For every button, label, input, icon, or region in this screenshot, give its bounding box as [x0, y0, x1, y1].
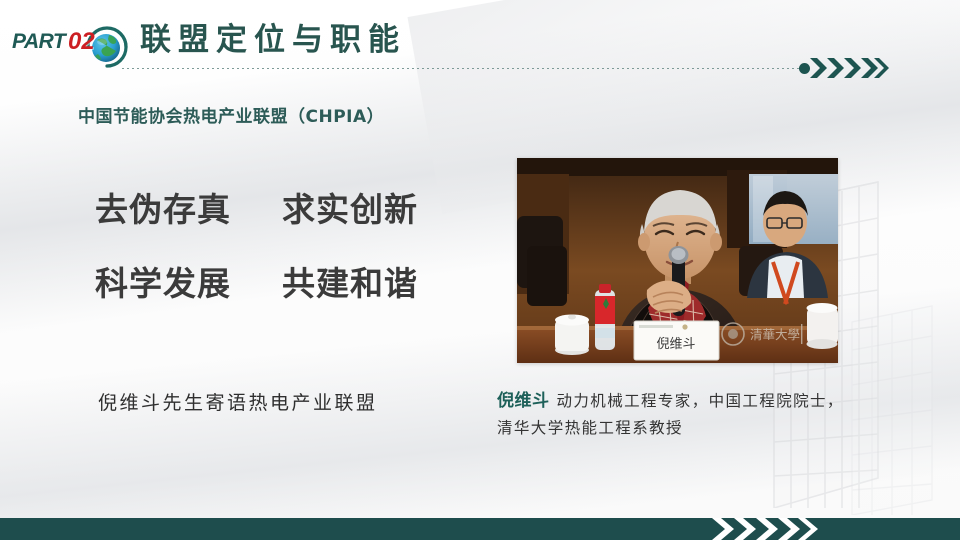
slide-header: PART 02 联盟定位与职能	[0, 0, 960, 92]
part-label: PART	[12, 30, 65, 54]
part-number: 02	[68, 28, 95, 56]
slide-canvas: PART 02 联盟定位与职能	[0, 0, 960, 540]
slogan-line-2: 科学发展 共建和谐	[95, 257, 455, 305]
speaker-bio: 倪维斗动力机械工程专家，中国工程院院士， 清华大学热能工程系教授	[497, 388, 947, 442]
chevron-arrows-icon	[712, 518, 822, 540]
speaker-name: 倪维斗	[497, 391, 550, 411]
photo-nameplate: 倪维斗	[634, 321, 719, 360]
part-badge: PART 02	[10, 16, 138, 68]
slogan-line-2-right: 共建和谐	[282, 264, 418, 303]
speaker-bio-line-2: 清华大学热能工程系教授	[497, 419, 683, 437]
chevron-arrows-icon	[810, 56, 890, 80]
photo-water-bottle	[595, 284, 615, 350]
bullet-dot-icon	[799, 63, 810, 74]
slogan-caption: 倪维斗先生寄语热电产业联盟	[98, 388, 378, 415]
header-dotted-rule	[122, 68, 802, 69]
photo-teacup-left	[555, 315, 589, 356]
speaker-photo: 倪维斗 清華大學	[517, 158, 838, 363]
speaker-photo-image: 倪维斗 清華大學	[517, 158, 838, 363]
slogan-line-2-left: 科学发展	[95, 264, 231, 303]
svg-text:清華大學: 清華大學	[750, 327, 800, 342]
slogan-line-1: 去伪存真 求实创新	[95, 183, 455, 231]
svg-text:倪维斗: 倪维斗	[656, 337, 695, 352]
slogan-block: 去伪存真 求实创新 科学发展 共建和谐	[95, 183, 455, 331]
photo-teacup-right	[807, 303, 839, 349]
slogan-line-1-left: 去伪存真	[95, 190, 231, 229]
page-title: 联盟定位与职能	[140, 14, 406, 59]
speaker-bio-line-1: 动力机械工程专家，中国工程院院士，	[557, 392, 844, 410]
slogan-line-1-right: 求实创新	[282, 190, 418, 229]
section-subtitle: 中国节能协会热电产业联盟（CHPIA）	[78, 102, 384, 127]
